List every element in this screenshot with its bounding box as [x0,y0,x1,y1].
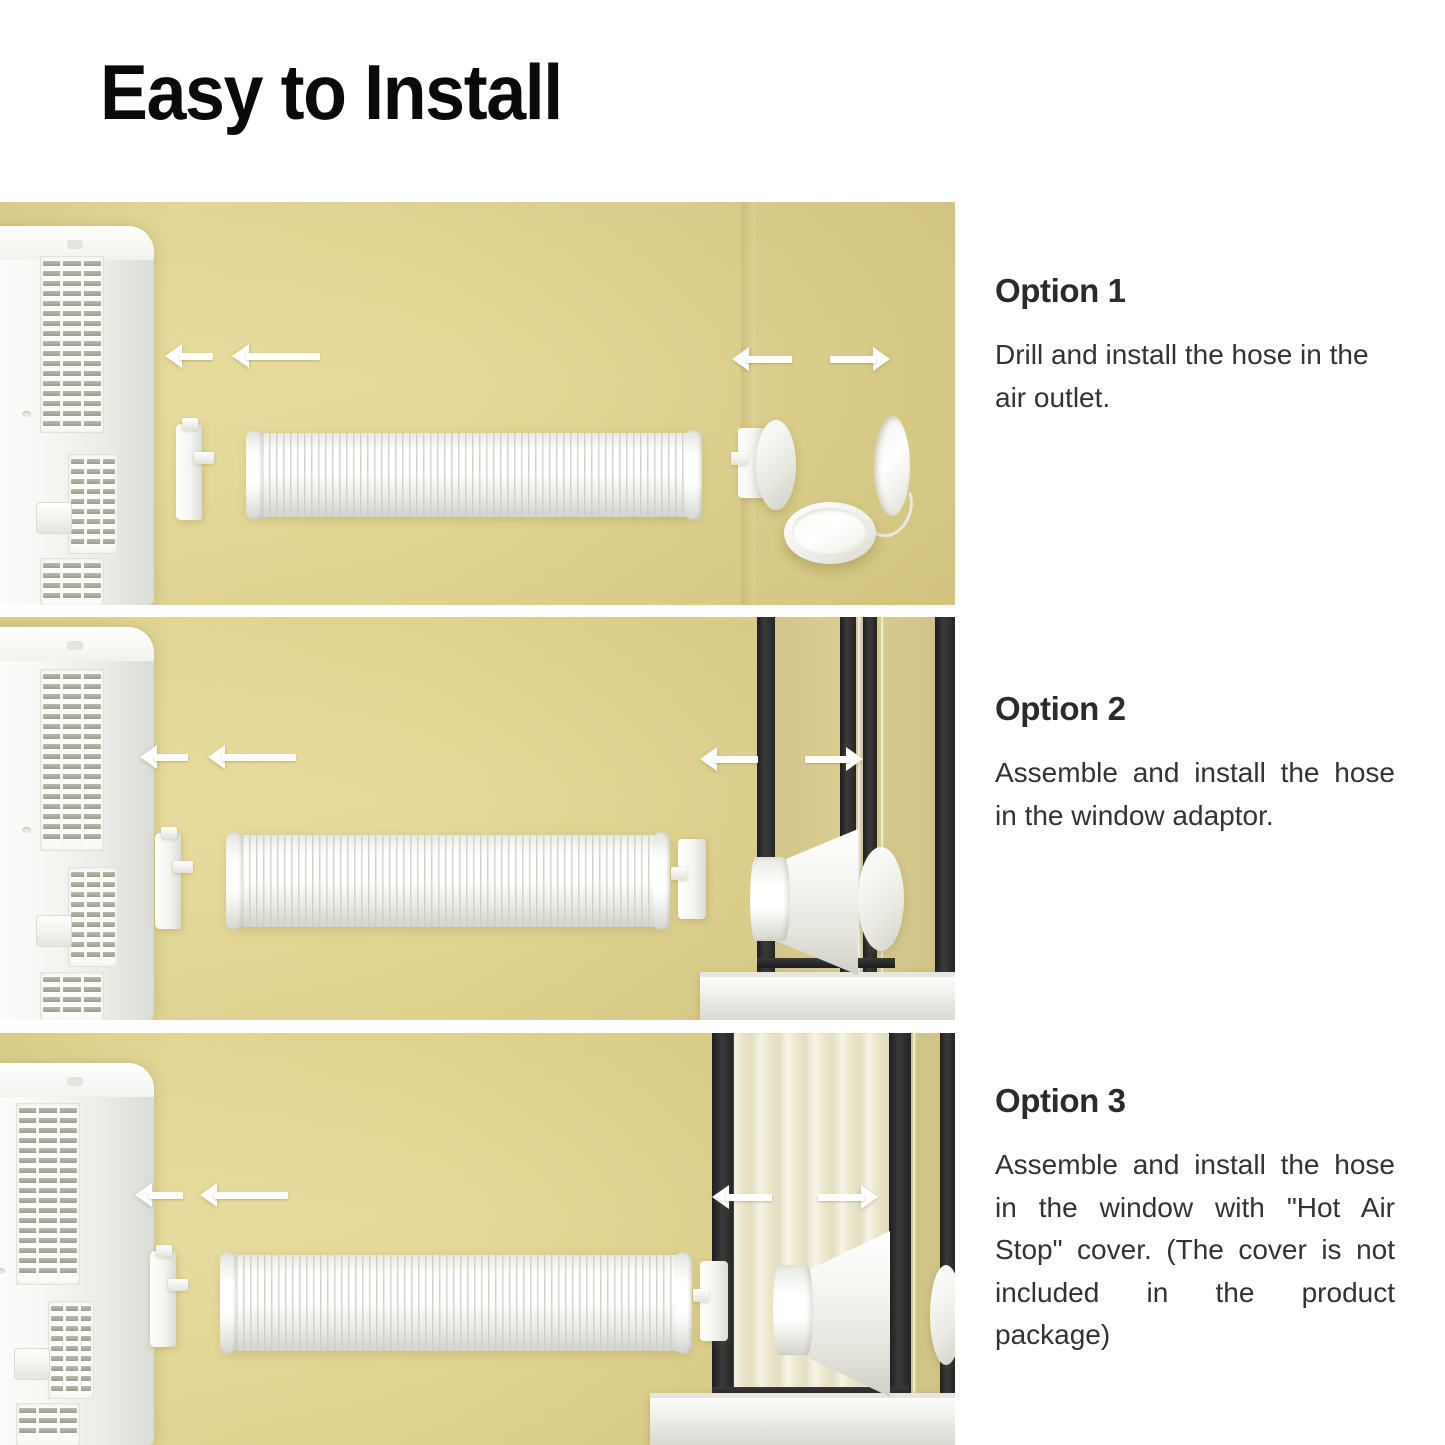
hose-window-clip [678,839,706,919]
ac-lower-grille [68,454,118,554]
ac-bottom-grille [16,1403,80,1445]
ac-upper-grille [40,669,104,851]
ac-upper-grille [16,1103,80,1285]
window-adaptor-back-flange [930,1265,955,1365]
ac-bottom-grille [40,558,104,605]
window-stile-left [712,1033,734,1445]
wall-outlet-cap [784,502,876,564]
window-sill [700,972,955,1020]
arrow-left-long-icon [208,745,296,769]
window-sash-edge [913,1033,916,1445]
arrow-left-short-icon [165,344,213,368]
window-stile-mid [889,1033,911,1445]
arrow-right-window-icon [818,1185,878,1209]
ac-lower-grille [48,1301,94,1399]
ac-top-cover [0,1063,154,1097]
option-3-description: Assemble and install the hose in the win… [995,1144,1395,1357]
ac-lower-grille [68,867,118,967]
exhaust-hose [228,835,668,927]
window-stile-right [935,617,955,1020]
option-2-text-block: Option 2 Assemble and install the hose i… [995,690,1395,837]
option-3-heading: Option 3 [995,1082,1395,1120]
arrow-left-short-icon [140,745,188,769]
arrow-left-window-icon [700,747,758,771]
option-3-image-panel [0,1033,955,1445]
ac-hose-socket [36,502,72,534]
ac-side-vent-dot [0,1268,5,1274]
window-frame [712,1033,955,1445]
ac-hose-socket [36,915,72,947]
window-adaptor-tube [750,857,790,941]
exhaust-hose [248,433,700,517]
hose-connector-clip [155,833,181,929]
page-title: Easy to Install [100,52,562,134]
arrow-left-long-icon [232,344,320,368]
ac-hose-socket [14,1348,50,1380]
arrow-left-outlet-icon [732,347,792,371]
ac-top-cover [0,226,154,260]
air-conditioner [0,627,154,1020]
window-adaptor-tube [773,1265,813,1355]
hose-connector-clip [150,1251,176,1347]
option-2-heading: Option 2 [995,690,1395,728]
option-1-heading: Option 1 [995,272,1395,310]
ac-top-cover [0,627,154,661]
hose-connector-clip [176,424,202,520]
ac-upper-grille [40,256,104,433]
arrow-right-window-icon [805,747,863,771]
arrow-left-long-icon [200,1183,288,1207]
option-2-description: Assemble and install the hose in the win… [995,752,1395,837]
window-stile-right [940,1033,955,1445]
window-adaptor-back-flange [858,847,904,951]
ac-side-vent-dot [22,827,31,833]
arrow-left-window-icon [712,1185,772,1209]
exhaust-hose [222,1255,690,1351]
window-sill [650,1393,955,1445]
wall-outlet-adaptor [756,420,796,510]
arrow-right-outlet-icon [830,347,890,371]
wall-corner-seam [741,202,755,605]
option-2-image-panel [0,617,955,1020]
ac-side-vent-dot [22,411,31,417]
option-1-description: Drill and install the hose in the air ou… [995,334,1395,419]
ac-bottom-grille [40,972,104,1020]
option-1-image-panel [0,202,955,605]
option-1-text-block: Option 1 Drill and install the hose in t… [995,272,1395,419]
arrow-left-short-icon [135,1183,183,1207]
option-3-text-block: Option 3 Assemble and install the hose i… [995,1082,1395,1357]
air-conditioner [0,226,154,605]
hose-window-clip [700,1261,728,1341]
air-conditioner [0,1063,154,1445]
